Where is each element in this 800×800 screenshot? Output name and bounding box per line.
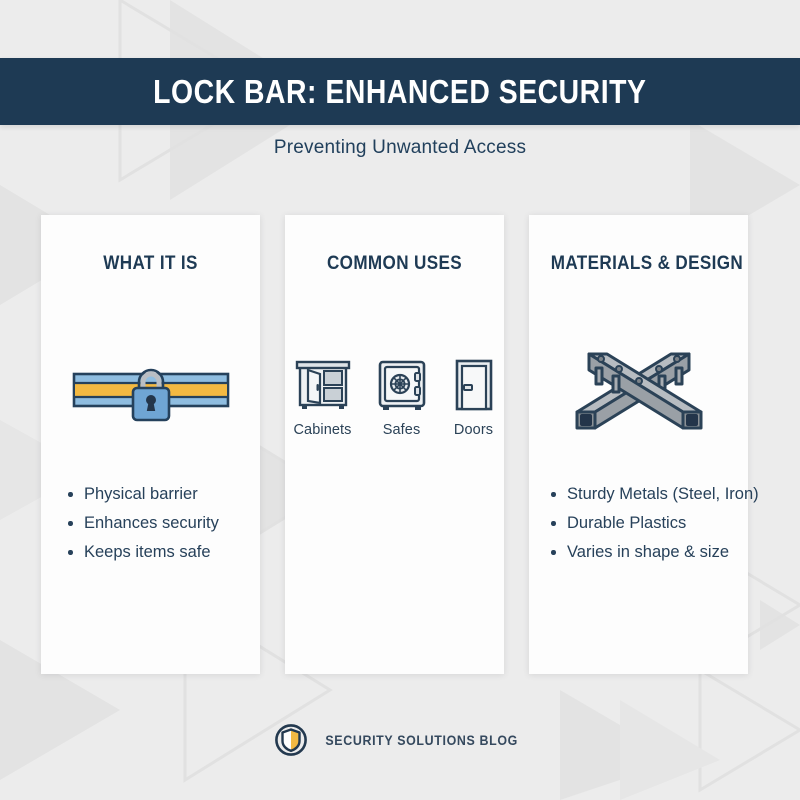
card-title: WHAT IT IS	[63, 253, 239, 275]
use-item-safes: Safes	[376, 357, 428, 438]
list-item: Varies in shape & size	[551, 538, 740, 567]
card-row: WHAT IT IS Physical	[41, 215, 748, 674]
crossed-bars-icon	[529, 320, 748, 440]
use-label: Doors	[454, 422, 493, 438]
list-item: Sturdy Metals (Steel, Iron)	[551, 480, 740, 509]
footer-brand: SECURITY SOLUTIONS BLOG	[325, 733, 518, 748]
list-item: Durable Plastics	[551, 509, 740, 538]
use-label: Cabinets	[293, 422, 351, 438]
use-item-doors: Doors	[452, 357, 496, 438]
page-title: LOCK BAR: ENHANCED SECURITY	[153, 73, 646, 111]
list-item: Keeps items safe	[68, 538, 252, 567]
card-common-uses: COMMON USES	[285, 215, 504, 674]
infographic-page: LOCK BAR: ENHANCED SECURITY Preventing U…	[0, 0, 800, 800]
card-title: MATERIALS & DESIGN	[551, 253, 727, 275]
door-icon	[452, 357, 496, 413]
page-subtitle: Preventing Unwanted Access	[0, 137, 800, 159]
list-item: Enhances security	[68, 509, 252, 538]
card-bullet-list: Sturdy Metals (Steel, Iron) Durable Plas…	[529, 480, 748, 567]
shield-badge-icon	[274, 723, 308, 757]
use-icons-row: Cabinets	[293, 357, 495, 438]
footer: SECURITY SOLUTIONS BLOG	[0, 723, 800, 757]
header-banner: LOCK BAR: ENHANCED SECURITY	[0, 58, 800, 125]
lock-bar-icon	[41, 355, 260, 435]
card-bullet-list: Physical barrier Enhances security Keeps…	[41, 480, 260, 567]
safe-icon	[376, 357, 428, 413]
use-icons-group: Cabinets	[285, 345, 504, 450]
card-materials-design: MATERIALS & DESIGN	[529, 215, 748, 674]
use-item-cabinets: Cabinets	[293, 357, 351, 438]
use-label: Safes	[383, 422, 421, 438]
card-title: COMMON USES	[307, 253, 483, 275]
cabinet-icon	[294, 357, 352, 413]
list-item: Physical barrier	[68, 480, 252, 509]
card-what-it-is: WHAT IT IS Physical	[41, 215, 260, 674]
